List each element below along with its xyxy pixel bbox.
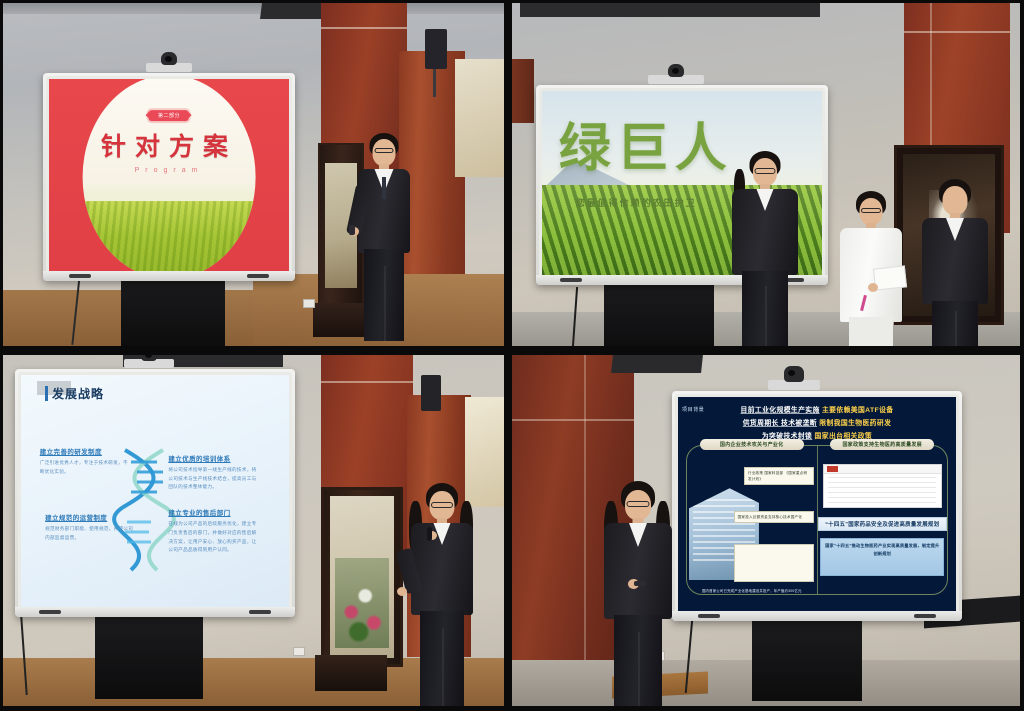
- slide-program: 第二部分 针对方案 Program: [49, 79, 289, 275]
- headline-2-highlight: 限制我国生物医药研发: [819, 420, 891, 427]
- display-speaker-left: [698, 614, 720, 618]
- card-right-highlight-bar: “十四五”国家药品安全及促进高质量发展规划: [818, 517, 948, 531]
- wall-socket: [293, 647, 305, 656]
- photo-panel-bottom-right: 项目背景 目前工业化规模生产实施 主要依赖美国ATF设备 供货周期长 技术被垄断…: [508, 352, 1024, 711]
- photo-panel-bottom-left: 发展战略: [0, 352, 508, 711]
- camera-lens-icon: [141, 355, 157, 361]
- headline-1-plain: 目前工业化规模生产实施: [741, 407, 820, 414]
- card-left-note-1: 行业政策 国家科技部 《国家重点研发计划》: [744, 467, 814, 485]
- trousers: [420, 611, 464, 706]
- strategy-block-3-body: 规范财务部门职能、使用规范，并使公司内部监督运营。: [45, 525, 136, 542]
- screen-base: [315, 655, 387, 691]
- strategy-block-1: 建立完善的研发制度 广泛引进优秀人才，专注于技术研发，不断优化实验。: [40, 446, 131, 476]
- ceiling-dark-band: [611, 355, 703, 373]
- card-left-note-3: [734, 544, 814, 582]
- hand: [868, 283, 878, 292]
- card-left: 国内企业技术攻关与产业化 行业政策 国家科技部 《国家重点研发计划》 国家投入巨…: [687, 446, 817, 594]
- glasses-icon: [627, 501, 650, 507]
- strategy-block-4-heading: 建立专业的售后部门: [168, 507, 259, 517]
- ceiling-band: [3, 3, 504, 14]
- slide-title: 绿巨人: [559, 106, 733, 181]
- trousers: [364, 249, 404, 341]
- conference-camera-icon: [768, 380, 820, 390]
- slide-development-strategy: 发展战略: [21, 375, 289, 611]
- head: [943, 186, 968, 215]
- wall-socket: [303, 299, 315, 308]
- strategy-block-3-heading: 建立规范的运营制度: [45, 512, 136, 522]
- card-right-pill: 国家政策支持生物医药高质量发展: [830, 439, 934, 450]
- display-speaker-right: [914, 614, 936, 618]
- card-left-note-2: 国家投入巨额资金支持核心技术国产化: [734, 511, 814, 523]
- framed-floral-screen: [321, 487, 403, 667]
- headline-1-highlight: 主要依赖美国ATF设备: [822, 407, 893, 414]
- display-speaker-right: [247, 274, 269, 278]
- trousers: [742, 271, 788, 346]
- display-speaker-left: [560, 278, 582, 282]
- pointing-hand: [397, 587, 407, 596]
- slide-title: 针对方案: [101, 127, 237, 163]
- headline-2: 供货周期长 技术被垄断 限制我国生物医药研发: [678, 417, 956, 427]
- gov-logo-icon: [827, 466, 838, 472]
- interactive-display-3[interactable]: 发展战略: [15, 369, 295, 617]
- slide-industry-background: 项目背景 目前工业化规模生产实施 主要依赖美国ATF设备 供货周期长 技术被垄断…: [678, 397, 956, 615]
- headline-2-plain: 供货周期长 技术被垄断: [743, 420, 817, 427]
- room-photo-4: 项目背景 目前工业化规模生产实施 主要依赖美国ATF设备 供货周期长 技术被垄断…: [512, 355, 1020, 706]
- display-screen-1[interactable]: 第二部分 针对方案 Program: [49, 79, 289, 275]
- necktie: [382, 177, 386, 199]
- camera-lens-icon: [161, 52, 177, 65]
- slide-field-photo: [83, 201, 256, 275]
- webpage-text-lines: [828, 477, 936, 504]
- ceiling-speaker: [421, 375, 441, 411]
- trousers: [614, 615, 662, 706]
- camera-lens-icon: [668, 64, 684, 77]
- glasses-icon: [755, 168, 776, 174]
- interactive-display-4[interactable]: 项目背景 目前工业化规模生产实施 主要依赖美国ATF设备 供货周期长 技术被垄断…: [672, 391, 962, 621]
- display-speaker-left: [39, 610, 61, 614]
- photo-panel-top-right: 绿巨人 您最值得信赖的农田护卫: [508, 0, 1024, 352]
- policy-webpage-screenshot: [823, 464, 942, 508]
- card-right: 国家政策支持生物医药高质量发展 “十四五”国家药品安全及促进高质量发展规划 国家…: [817, 446, 948, 594]
- display-speaker-left: [69, 274, 91, 278]
- conference-camera-icon: [146, 63, 192, 72]
- slide-subtitle: 您最值得信赖的农田护卫: [576, 196, 697, 209]
- left-wood-trim: [512, 59, 534, 123]
- slide-subtitle: Program: [135, 167, 204, 174]
- slide-header: 发展战略: [31, 385, 104, 402]
- presenter-female-3: [916, 179, 994, 346]
- room-photo-2: 绿巨人 您最值得信赖的农田护卫: [512, 3, 1020, 346]
- room-photo-1: 第二部分 针对方案 Program: [3, 3, 504, 346]
- strategy-block-1-body: 广泛引进优秀人才，专注于技术研发，不断优化实验。: [40, 459, 131, 476]
- conference-camera-icon: [124, 359, 174, 368]
- glasses-icon: [375, 148, 394, 153]
- paper-sheet: [873, 265, 907, 290]
- conference-camera-icon: [648, 75, 704, 84]
- photo-panel-top-left: 第二部分 针对方案 Program: [0, 0, 508, 352]
- remote-clicker: [634, 581, 646, 586]
- camera-lens-icon: [784, 366, 804, 382]
- lower-body: [849, 317, 893, 346]
- presenter-female-1: [726, 151, 804, 346]
- photo-grid: 第二部分 针对方案 Program: [0, 0, 1024, 711]
- trousers: [932, 301, 978, 346]
- remote-clicker: [349, 225, 355, 235]
- floral-artwork: [330, 496, 394, 658]
- display-screen-3[interactable]: 发展战略: [21, 375, 289, 611]
- display-stand: [604, 278, 714, 346]
- display-stand: [95, 613, 203, 699]
- display-screen-4[interactable]: 项目背景 目前工业化规模生产实施 主要依赖美国ATF设备 供货周期长 技术被垄断…: [678, 397, 956, 615]
- glasses-icon: [431, 502, 453, 508]
- strategy-block-2: 建立优质的培训体系 将公司技术指导第一线生产线的技术，将公司技术与生产线技术结合…: [168, 453, 259, 492]
- presenter-female-speaker: [405, 483, 479, 706]
- slide-title: 发展战略: [52, 385, 104, 402]
- card-left-pill: 国内企业技术攻关与产业化: [700, 439, 804, 450]
- interactive-display-1[interactable]: 第二部分 针对方案 Program: [43, 73, 295, 281]
- display-stand: [752, 617, 862, 701]
- presenter-male: [353, 133, 415, 345]
- browser-bar: [824, 465, 941, 474]
- display-stand: [121, 271, 225, 346]
- presenter-female-speaker: [598, 481, 678, 706]
- window: [455, 59, 504, 177]
- ceiling-speaker: [425, 29, 447, 69]
- strategy-block-2-heading: 建立优质的培训体系: [168, 453, 259, 463]
- slide-oval-shape: 第二部分 针对方案 Program: [83, 79, 256, 275]
- slide-card-row: 国内企业技术攻关与产业化 行业政策 国家科技部 《国家重点研发计划》 国家投入巨…: [686, 445, 948, 595]
- header-accent-bar: [45, 386, 48, 401]
- strategy-block-4: 建立专业的售后部门 在线为公司产品的后续服务优化，建立专门负责售后的部门，并做好…: [168, 507, 259, 555]
- strategy-block-1-heading: 建立完善的研发制度: [40, 446, 131, 456]
- display-speaker-right: [249, 610, 271, 614]
- slide-section-badge: 第二部分: [149, 110, 189, 121]
- ceiling-dark-band: [520, 3, 820, 17]
- handheld-microphone: [427, 527, 432, 541]
- card-left-caption: 国内首家公司已完成产业化基地建设并投产，年产值约300亿元: [689, 588, 815, 593]
- card-right-blue-box: 国家“十四五”推动生物医药产业实现高质量发展，制定提升创新规划: [820, 538, 944, 576]
- strategy-block-4-body: 在线为公司产品的后续服务优化，建立专门负责售后的部门，并做好对应的售后解决方案，…: [168, 520, 259, 555]
- glasses-icon: [861, 208, 881, 213]
- presenter-female-2: [834, 191, 908, 346]
- headline-1: 目前工业化规模生产实施 主要依赖美国ATF设备: [678, 404, 956, 414]
- room-photo-3: 发展战略: [3, 355, 504, 706]
- strategy-block-3: 建立规范的运营制度 规范财务部门职能、使用规范，并使公司内部监督运营。: [45, 512, 136, 542]
- strategy-block-2-body: 将公司技术指导第一线生产线的技术，将公司技术与生产线技术结合，提高员工与团队的技…: [168, 466, 259, 492]
- ceiling-dark-band: [260, 3, 328, 19]
